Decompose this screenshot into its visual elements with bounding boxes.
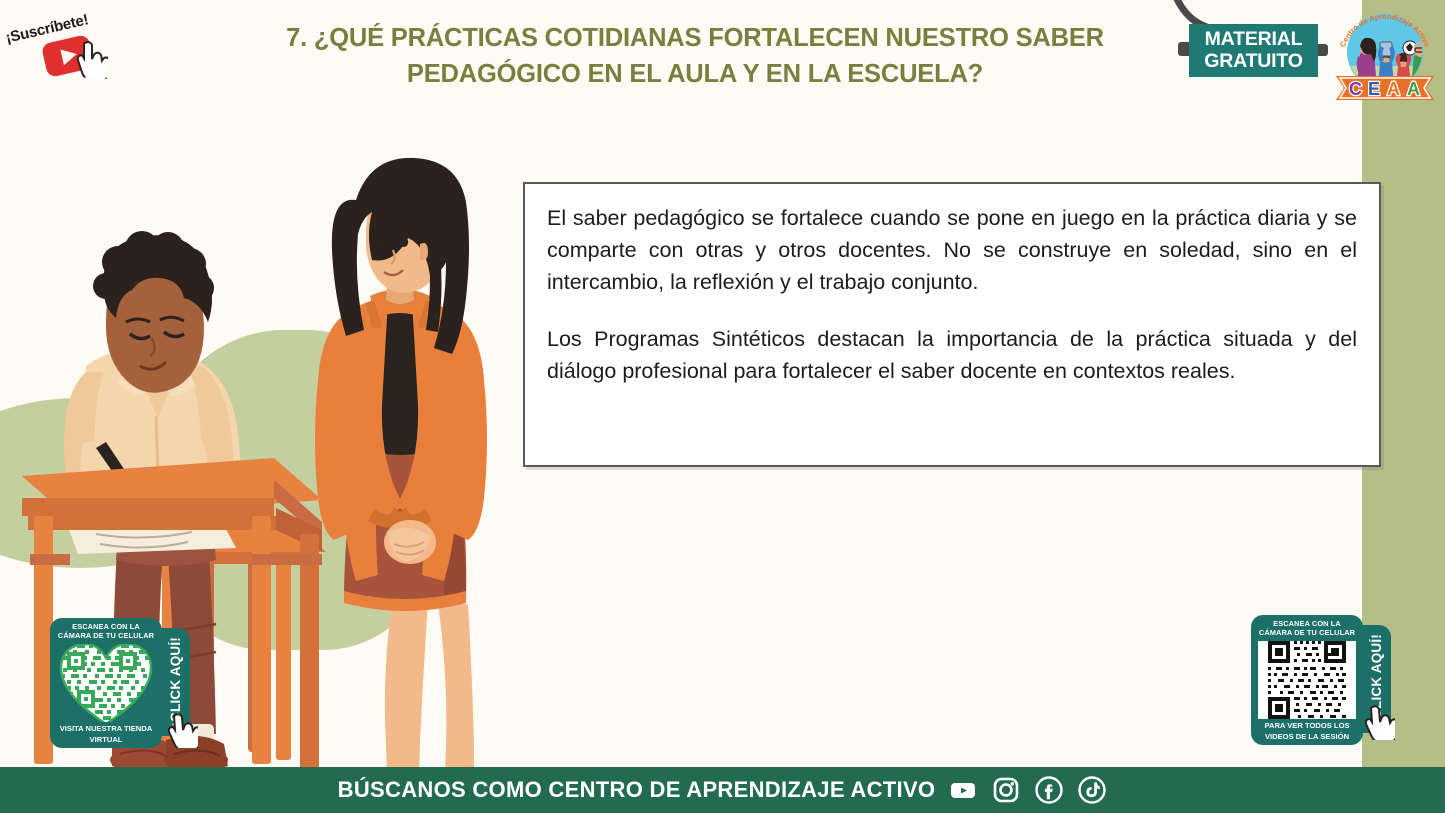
qr-left-caption-line2: CÁMARA DE TU CELULAR (58, 632, 154, 641)
page-title: 7. ¿QUÉ PRÁCTICAS COTIDIANAS FORTALECEN … (210, 20, 1180, 92)
page-title-line1: 7. ¿QUÉ PRÁCTICAS COTIDIANAS FORTALECEN … (286, 24, 1104, 52)
qr-right-footer-line2: VIDEOS DE LA SESIÓN (1265, 732, 1349, 741)
svg-text:A: A (1407, 79, 1420, 99)
free-material-sign: MATERIAL GRATUITO (1189, 24, 1318, 77)
slide-canvas: ¡Suscríbete! 7. ¿QUÉ PRÁCTICAS COTIDIANA… (0, 0, 1445, 813)
subscribe-badge[interactable]: ¡Suscríbete! (4, 6, 126, 80)
panel-paragraph-2: Los Programas Sintéticos destacan la imp… (547, 323, 1357, 387)
svg-text:A: A (1387, 79, 1400, 99)
qr-code-heart[interactable] (57, 644, 155, 722)
page-title-line2: PEDAGÓGICO EN EL AULA Y EN LA ESCUELA? (407, 60, 983, 88)
qr-badge-store[interactable]: ESCANEA CON LA CÁMARA DE TU CELULAR (50, 618, 162, 748)
qr-right-footer-line1: PARA VER TODOS LOS (1264, 721, 1349, 730)
pointing-hand-icon (73, 39, 110, 79)
instagram-icon[interactable] (991, 775, 1021, 805)
qr-left-footer-line2: VIRTUAL (90, 735, 123, 744)
facebook-icon[interactable] (1034, 775, 1064, 805)
footer-bar: BÚSCANOS COMO CENTRO DE APRENDIZAJE ACTI… (0, 767, 1445, 813)
youtube-icon[interactable] (948, 775, 978, 805)
free-material-line1: MATERIAL (1205, 29, 1303, 51)
tiktok-icon[interactable] (1077, 775, 1107, 805)
qr-badge-videos[interactable]: ESCANEA CON LA CÁMARA DE TU CELULAR (1251, 615, 1363, 745)
panel-paragraph-1: El saber pedagógico se fortalece cuando … (547, 202, 1357, 298)
qr-left-footer-line1: VISITA NUESTRA TIENDA (60, 724, 153, 733)
qr-right-caption-line2: CÁMARA DE TU CELULAR (1259, 629, 1355, 638)
pointing-hand-icon-left (166, 712, 198, 748)
qr-code-square[interactable] (1258, 641, 1356, 719)
footer-text: BÚSCANOS COMO CENTRO DE APRENDIZAJE ACTI… (338, 777, 936, 803)
ceaa-logo: Centro de Aprendizaje Activo C E A A (1330, 4, 1440, 102)
content-panel: El saber pedagógico se fortalece cuando … (523, 182, 1381, 467)
svg-text:C: C (1349, 79, 1362, 99)
svg-text:E: E (1368, 79, 1380, 99)
pointing-hand-icon-right (1363, 704, 1395, 740)
free-material-line2: GRATUITO (1204, 51, 1302, 73)
